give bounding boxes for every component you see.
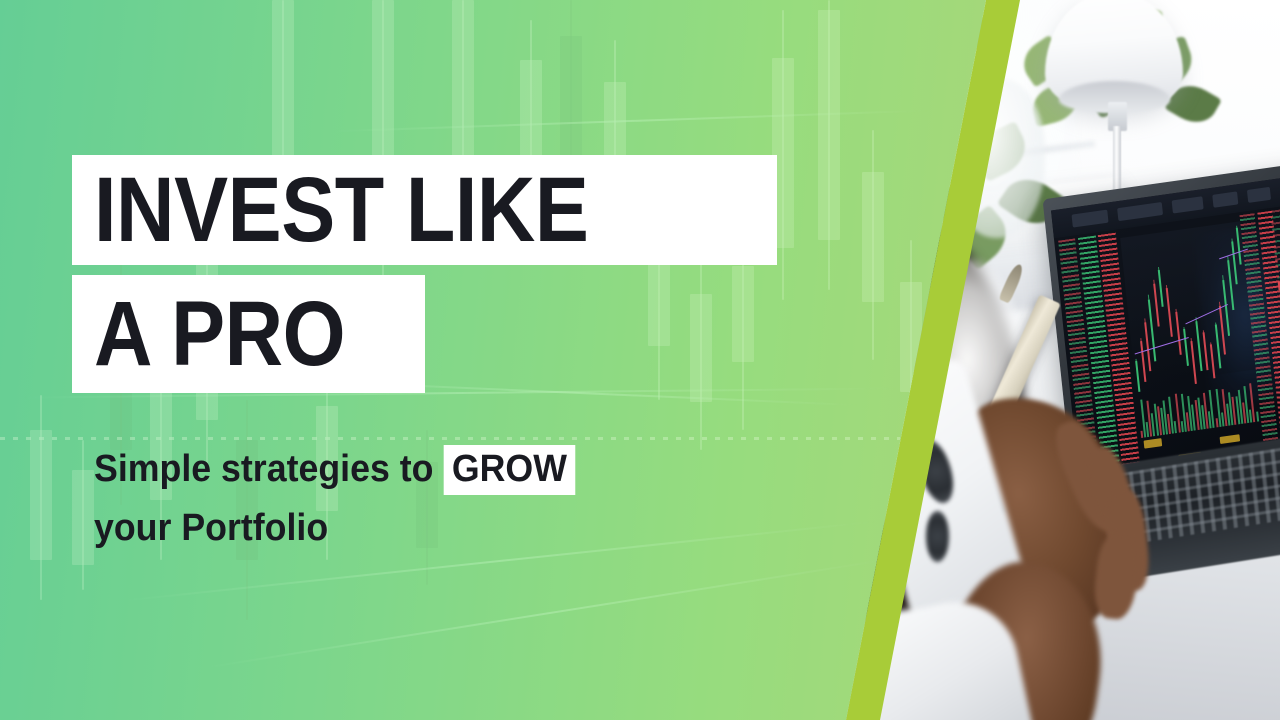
banner-canvas: INVEST LIKE A PRO Simple strategies to G… — [0, 0, 1280, 720]
candle-body — [72, 470, 94, 565]
subheadline-highlight-grow: GROW — [443, 445, 575, 495]
phone-camera-lens-2 — [926, 511, 949, 561]
headline-line-2: A PRO — [94, 292, 345, 377]
candle-body — [560, 36, 582, 156]
terminal-badge — [1144, 438, 1162, 448]
headline-box-2: A PRO — [72, 275, 425, 393]
candle-body — [690, 294, 712, 402]
subheadline: Simple strategies to GROW your Portfolio — [94, 440, 752, 558]
headline-line-1: INVEST LIKE — [94, 168, 588, 253]
candle-body — [30, 430, 52, 560]
trend-line — [204, 557, 896, 668]
subheadline-line-1: Simple strategies to GROW — [94, 440, 752, 499]
terminal-badge — [1220, 433, 1241, 443]
candle-body — [818, 10, 840, 240]
subheadline-line-2: your Portfolio — [94, 499, 752, 558]
candle-body — [732, 266, 754, 362]
candle-body — [452, 0, 474, 160]
subheadline-lead: Simple strategies to — [94, 448, 433, 490]
volume-histogram — [1137, 378, 1262, 438]
candle-body — [862, 172, 884, 302]
headline-box-1: INVEST LIKE — [72, 155, 777, 265]
volume-bar — [1256, 411, 1259, 421]
